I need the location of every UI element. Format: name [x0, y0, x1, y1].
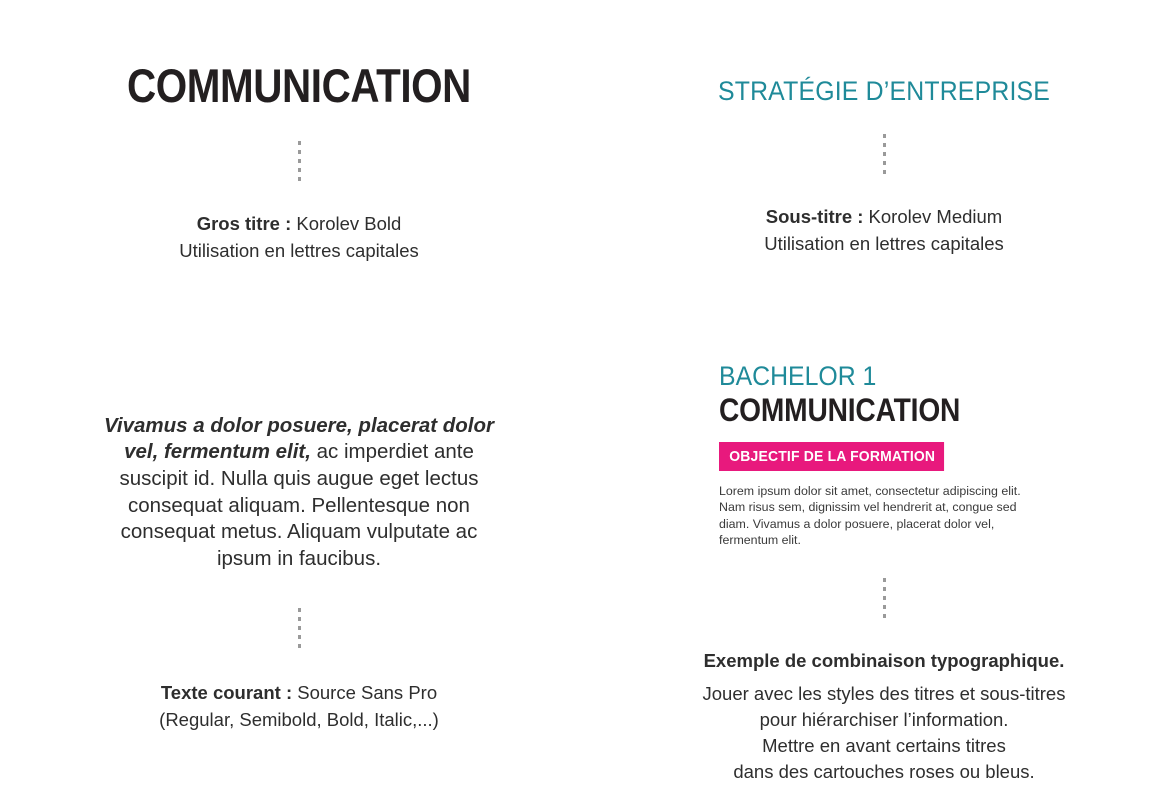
- dotted-divider-icon: [298, 141, 301, 183]
- right-footer-line-4: dans des cartouches roses ou bleus.: [598, 759, 1170, 785]
- right-caption-line-1: Sous-titre : Korolev Medium: [598, 204, 1170, 231]
- dotted-divider-icon: [883, 578, 886, 620]
- right-caption-line-2: Utilisation en lettres capitales: [598, 231, 1170, 258]
- example-title: COMMUNICATION: [719, 393, 1019, 429]
- left-caption-line-1: Gros titre : Korolev Bold: [0, 211, 598, 238]
- left-title-block: COMMUNICATION: [0, 0, 598, 109]
- right-caption-label: Sous-titre :: [766, 206, 864, 227]
- left-caption-value: Korolev Bold: [291, 213, 401, 234]
- right-footer-line-1: Jouer avec les styles des titres et sous…: [598, 681, 1170, 707]
- right-column: STRATÉGIE D’ENTREPRISE Sous-titre : Koro…: [598, 0, 1170, 800]
- dotted-divider-icon: [883, 134, 886, 176]
- left-caption: Gros titre : Korolev Bold Utilisation en…: [0, 211, 598, 265]
- left-footer-line-2: (Regular, Semibold, Bold, Italic,...): [0, 707, 598, 734]
- body-text-specimen: Vivamus a dolor posuere, placerat dolor …: [0, 413, 598, 573]
- left-footer-value: Source Sans Pro: [292, 682, 437, 703]
- page-title: COMMUNICATION: [42, 62, 556, 109]
- right-footer-line-3: Mettre en avant certains titres: [598, 733, 1170, 759]
- right-footer-caption: Exemple de combinaison typographique. Jo…: [598, 648, 1170, 785]
- left-body-block: Vivamus a dolor posuere, placerat dolor …: [0, 413, 598, 573]
- example-body-text: Lorem ipsum dolor sit amet, consectetur …: [719, 483, 1034, 549]
- left-caption-line-2: Utilisation en lettres capitales: [0, 238, 598, 265]
- example-kicker: BACHELOR 1: [719, 362, 1033, 390]
- right-footer-line-2: pour hiérarchiser l’information.: [598, 707, 1170, 733]
- example-card: BACHELOR 1 COMMUNICATION OBJECTIF DE LA …: [598, 362, 1170, 549]
- left-footer-line-1: Texte courant : Source Sans Pro: [0, 680, 598, 707]
- typography-specimen-page: COMMUNICATION Gros titre : Korolev Bold …: [0, 0, 1170, 800]
- left-column: COMMUNICATION Gros titre : Korolev Bold …: [0, 0, 598, 800]
- status-badge: OBJECTIF DE LA FORMATION: [719, 442, 944, 471]
- right-title-block: STRATÉGIE D’ENTREPRISE: [598, 0, 1170, 105]
- right-caption: Sous-titre : Korolev Medium Utilisation …: [598, 204, 1170, 258]
- dotted-divider-icon: [298, 608, 301, 650]
- right-footer-heading: Exemple de combinaison typographique.: [598, 648, 1170, 674]
- right-caption-value: Korolev Medium: [863, 206, 1002, 227]
- left-footer-label: Texte courant :: [161, 682, 292, 703]
- section-subtitle: STRATÉGIE D’ENTREPRISE: [621, 78, 1147, 105]
- left-caption-label: Gros titre :: [197, 213, 292, 234]
- left-footer-caption: Texte courant : Source Sans Pro (Regular…: [0, 680, 598, 734]
